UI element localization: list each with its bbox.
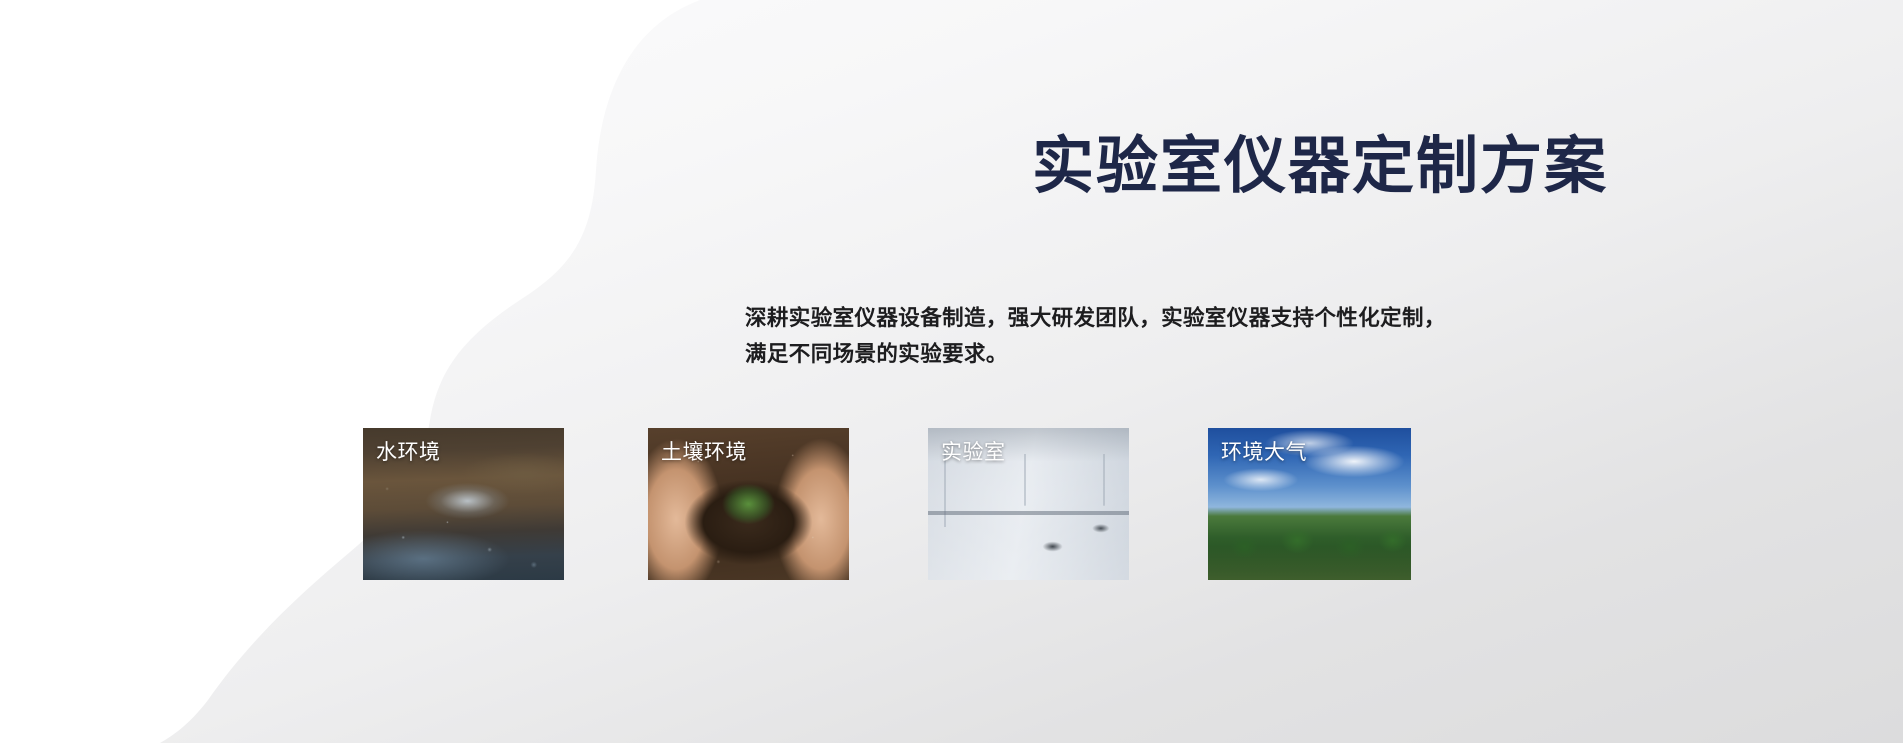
decorative-circle-large — [321, 135, 435, 239]
category-card-atmosphere[interactable]: 环境大气 — [1208, 428, 1411, 580]
page-title: 实验室仪器定制方案 — [1032, 136, 1608, 198]
card-label: 水环境 — [376, 440, 441, 466]
hero-banner: 实验室仪器定制方案 深耕实验室仪器设备制造，强大研发团队，实验室仪器支持个性化定… — [0, 0, 1903, 743]
organic-wave-shape — [0, 0, 700, 743]
category-card-water[interactable]: 水环境 — [363, 428, 564, 580]
card-label: 实验室 — [941, 440, 1006, 466]
decorative-circle-small — [239, 446, 305, 508]
subtitle-block: 深耕实验室仪器设备制造，强大研发团队，实验室仪器支持个性化定制， 满足不同场景的… — [745, 300, 1405, 372]
card-label: 土壤环境 — [661, 440, 747, 466]
category-card-row: 水环境 土壤环境 实验室 环境大气 — [363, 428, 1573, 580]
category-card-laboratory[interactable]: 实验室 — [928, 428, 1129, 580]
subtitle-line-2: 满足不同场景的实验要求。 — [745, 336, 1405, 372]
card-label: 环境大气 — [1221, 440, 1307, 466]
category-card-soil[interactable]: 土壤环境 — [648, 428, 849, 580]
subtitle-line-1: 深耕实验室仪器设备制造，强大研发团队，实验室仪器支持个性化定制， — [745, 300, 1405, 336]
